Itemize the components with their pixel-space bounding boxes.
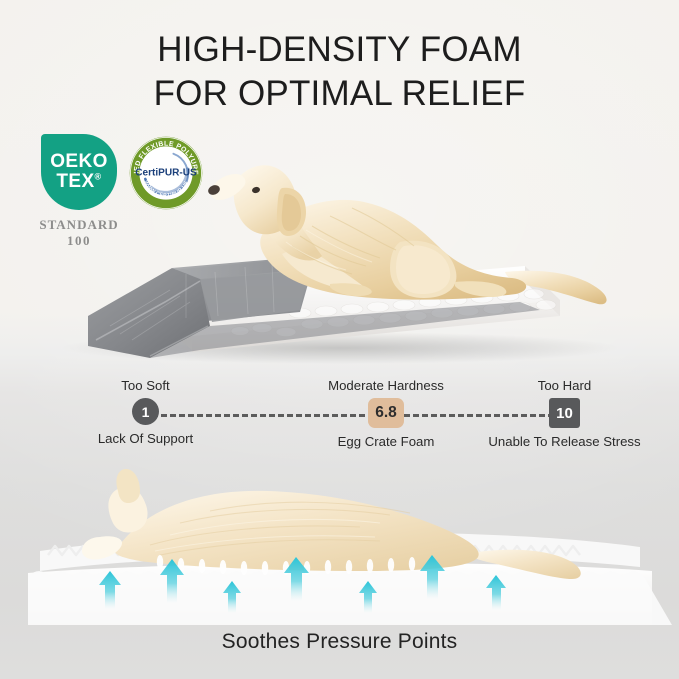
oeko-tex-line-2: TEX — [56, 171, 94, 192]
infographic-poster: HIGH-DENSITY FOAM FOR OPTIMAL RELIEF OEK… — [0, 0, 679, 679]
scale-chip-1: 1 — [132, 398, 159, 425]
scale-bottom-label: Egg Crate Foam — [311, 434, 461, 451]
oeko-tex-standard: STANDARD 100 — [38, 217, 120, 249]
page-title: HIGH-DENSITY FOAM FOR OPTIMAL RELIEF — [0, 28, 679, 116]
oeko-tex-icon: OEKO TEX® — [41, 134, 117, 210]
headline-line-1: HIGH-DENSITY FOAM — [0, 28, 679, 72]
footer-caption: Soothes Pressure Points — [0, 630, 679, 654]
certipur-us-icon: FOAM CERTIFIED FLEXIBLE POLYURETHANE FOA… — [129, 136, 203, 210]
certipur-center-text: CertiPUR-US — [135, 168, 197, 179]
oeko-tex-badge: OEKO TEX® STANDARD 100 — [38, 134, 120, 249]
headline-line-2: FOR OPTIMAL RELIEF — [0, 72, 679, 116]
hardness-scale: Too Soft 1 Lack Of Support Moderate Hard… — [0, 378, 679, 464]
scale-chip-68: 6.8 — [368, 398, 404, 428]
certipur-us-badge: FOAM CERTIFIED FLEXIBLE POLYURETHANE FOA… — [129, 136, 203, 210]
oeko-standard-number: 100 — [38, 233, 120, 249]
scale-node-moderate: Moderate Hardness 6.8 Egg Crate Foam — [311, 378, 461, 451]
scale-bottom-label: Unable To Release Stress — [487, 434, 642, 451]
scale-node-too-hard: Too Hard 10 Unable To Release Stress — [487, 378, 642, 451]
scale-bottom-label: Lack Of Support — [58, 431, 233, 448]
pressure-relief-scene — [0, 455, 679, 630]
certification-badges: OEKO TEX® STANDARD 100 — [38, 134, 203, 249]
registered-icon: ® — [95, 172, 102, 182]
scale-node-too-soft: Too Soft 1 Lack Of Support — [58, 378, 233, 448]
scale-top-label: Too Hard — [487, 378, 642, 393]
scale-top-label: Too Soft — [58, 378, 233, 393]
scale-top-label: Moderate Hardness — [311, 378, 461, 393]
oeko-tex-line-1: OEKO — [50, 152, 108, 172]
scale-chip-10: 10 — [549, 398, 580, 428]
oeko-standard-word: STANDARD — [39, 217, 118, 232]
